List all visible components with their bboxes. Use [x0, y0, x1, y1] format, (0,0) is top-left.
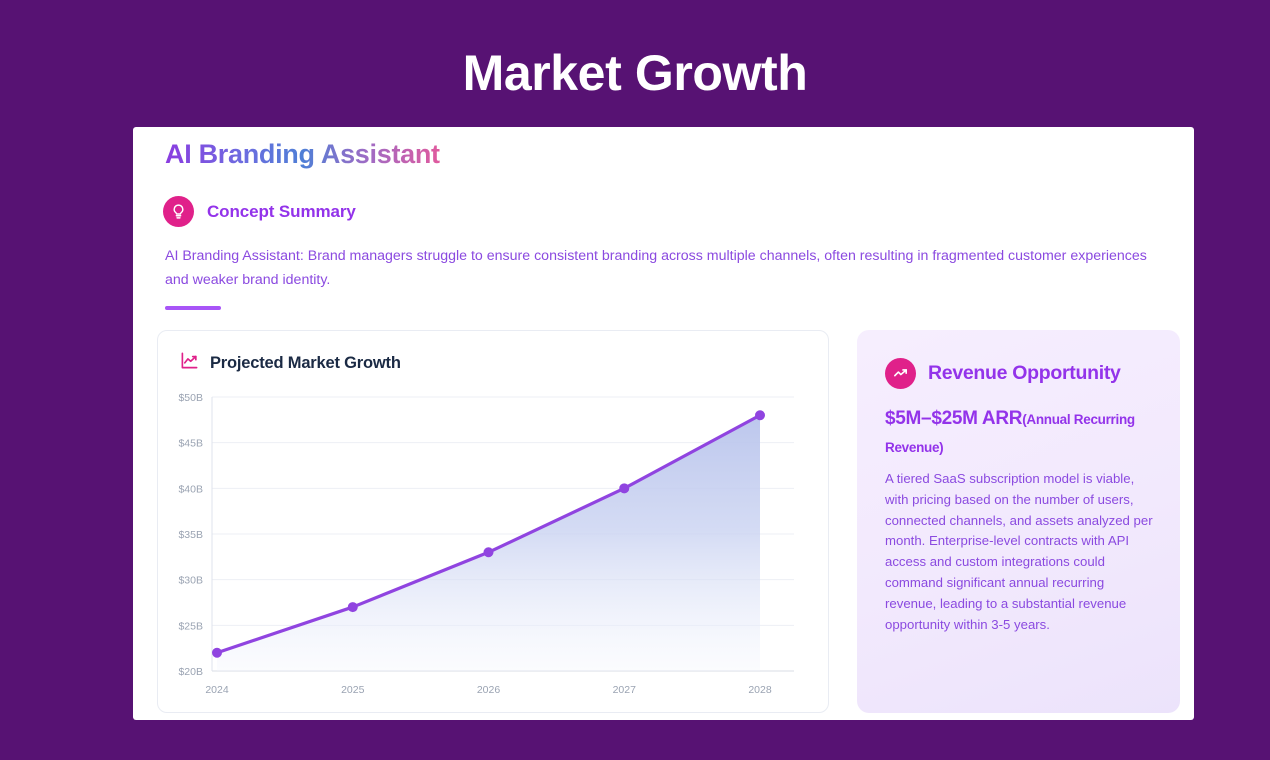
revenue-amount: $5M–$25M ARR(Annual Recurring Revenue)	[885, 405, 1157, 461]
revenue-panel-header: Revenue Opportunity	[885, 358, 1121, 389]
chart-point	[212, 648, 222, 658]
svg-text:$50B: $50B	[178, 392, 203, 404]
card-title: AI Branding Assistant	[165, 139, 440, 170]
concept-summary-text: AI Branding Assistant: Brand managers st…	[165, 244, 1150, 292]
concept-summary-label: Concept Summary	[207, 202, 356, 222]
lightbulb-icon	[163, 196, 194, 227]
chart-y-axis-labels: $50B$45B$40B$35B$30B$25B$20B	[178, 392, 203, 678]
chart-point	[619, 483, 629, 493]
chart-x-axis-labels: 20242025202620272028	[205, 684, 772, 696]
chart-point	[484, 547, 494, 557]
svg-text:$30B: $30B	[178, 575, 203, 587]
concept-summary-header: Concept Summary	[163, 196, 356, 227]
svg-text:2026: 2026	[477, 684, 501, 696]
chart-point	[348, 602, 358, 612]
svg-text:$35B: $35B	[178, 529, 203, 541]
svg-text:2028: 2028	[748, 684, 772, 696]
chart-line-icon	[180, 351, 199, 375]
revenue-body-text: A tiered SaaS subscription model is viab…	[885, 469, 1153, 635]
svg-text:2024: 2024	[205, 684, 229, 696]
svg-text:$45B: $45B	[178, 438, 203, 450]
chart-plot: $50B$45B$40B$35B$30B$25B$20B 20242025202…	[158, 387, 829, 713]
revenue-panel-title: Revenue Opportunity	[928, 362, 1121, 385]
chart-panel-header: Projected Market Growth	[180, 351, 401, 375]
content-card: AI Branding Assistant Concept Summary AI…	[133, 127, 1194, 720]
svg-text:$25B: $25B	[178, 620, 203, 632]
chart-panel: Projected Market Growth $50B$45B$40B$35B…	[157, 330, 829, 713]
chart-area-fill	[217, 415, 760, 671]
svg-text:$40B: $40B	[178, 483, 203, 495]
chart-point	[755, 410, 765, 420]
slide: Market Growth AI Branding Assistant Conc…	[0, 0, 1270, 760]
page-title: Market Growth	[0, 44, 1270, 102]
svg-text:2025: 2025	[341, 684, 365, 696]
trending-up-icon	[885, 358, 916, 389]
svg-text:2027: 2027	[613, 684, 637, 696]
svg-text:$20B: $20B	[178, 666, 203, 678]
revenue-amount-value: $5M–$25M ARR	[885, 408, 1022, 429]
revenue-opportunity-panel: Revenue Opportunity $5M–$25M ARR(Annual …	[857, 330, 1180, 713]
chart-panel-title: Projected Market Growth	[210, 354, 401, 373]
section-divider	[165, 306, 221, 310]
market-growth-area-chart: $50B$45B$40B$35B$30B$25B$20B 20242025202…	[158, 387, 829, 713]
